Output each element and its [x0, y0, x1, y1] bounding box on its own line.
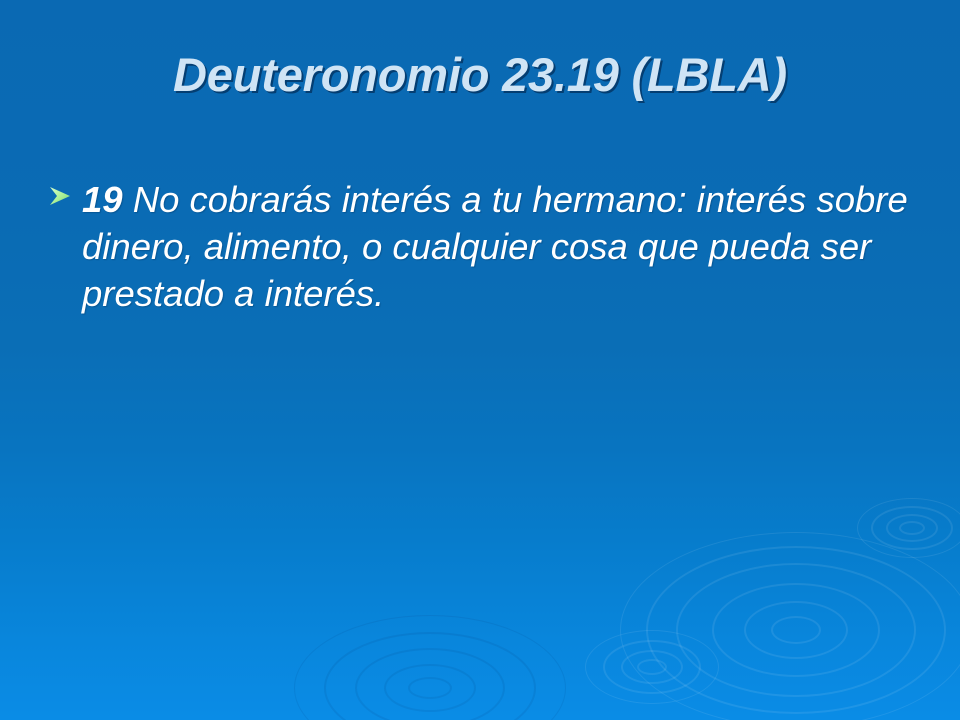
verse-text: No cobrarás interés a tu hermano: interé… — [82, 179, 908, 314]
slide-title-placeholder[interactable]: Deuteronomio 23.19 (LBLA) — [48, 46, 912, 104]
page-title: Deuteronomio 23.19 (LBLA) — [48, 46, 912, 104]
slide-body-placeholder[interactable]: 19 No cobrarás interés a tu hermano: int… — [48, 176, 920, 317]
bullet-text: 19 No cobrarás interés a tu hermano: int… — [82, 176, 920, 317]
presentation-slide: Deuteronomio 23.19 (LBLA) 19 No co — [0, 0, 960, 720]
arrow-bullet-icon — [48, 176, 82, 207]
water-ripple-decoration — [0, 0, 960, 720]
verse-number: 19 — [82, 179, 123, 220]
list-item: 19 No cobrarás interés a tu hermano: int… — [48, 176, 920, 317]
